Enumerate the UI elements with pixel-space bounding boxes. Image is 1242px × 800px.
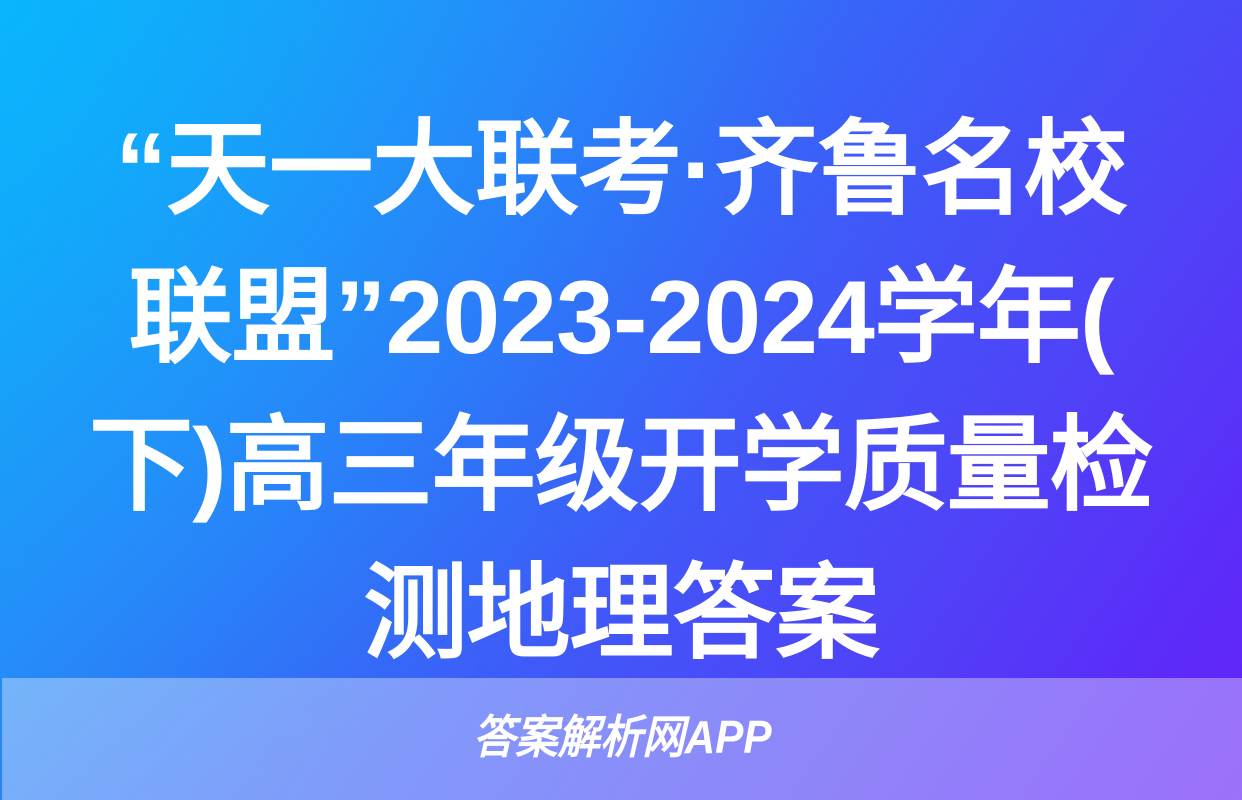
answer-cover-poster: “天一大联考·齐鲁名校 联盟”2023-2024学年( 下)高三年级开学质量检 …	[0, 0, 1242, 800]
title-line-3: 下)高三年级开学质量检	[10, 392, 1232, 540]
watermark-brand-text: 答案解析网APP	[473, 712, 772, 766]
watermark-band: 答案解析网APP	[2, 678, 1242, 800]
title-line-1: “天一大联考·齐鲁名校	[10, 96, 1232, 244]
title-line-2: 联盟”2023-2024学年(	[10, 244, 1232, 392]
page-title: “天一大联考·齐鲁名校 联盟”2023-2024学年( 下)高三年级开学质量检 …	[0, 96, 1242, 688]
title-line-4: 测地理答案	[10, 540, 1232, 688]
